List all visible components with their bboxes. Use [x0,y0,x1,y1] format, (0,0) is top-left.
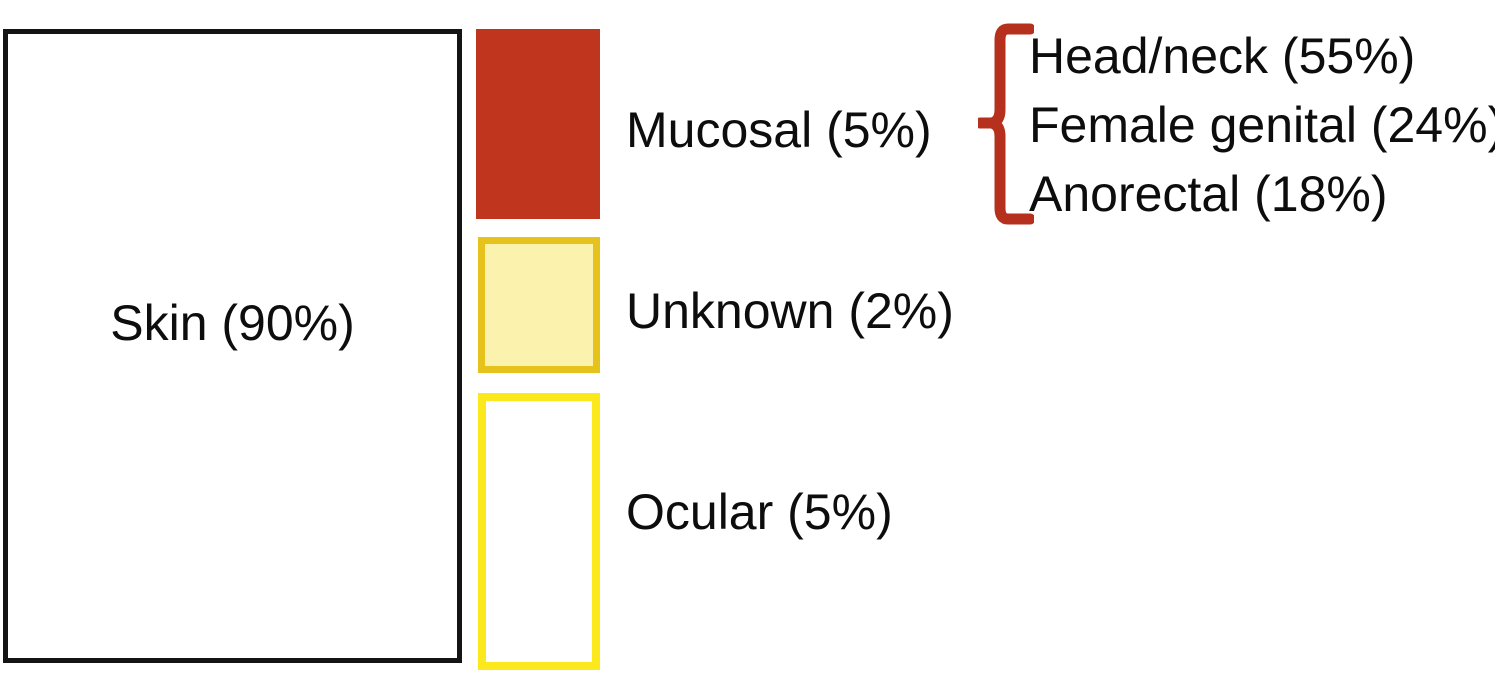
block-unknown-label: Unknown (2%) [626,286,954,336]
block-ocular [478,393,600,670]
block-ocular-label: Ocular (5%) [626,487,893,537]
curly-brace-icon [978,22,1034,228]
block-mucosal-label: Mucosal (5%) [626,105,932,155]
block-unknown [478,237,600,373]
mucosal-subtype-anorectal: Anorectal (18%) [1029,169,1388,219]
mucosal-subtype-head-neck: Head/neck (55%) [1029,31,1415,81]
block-mucosal [476,29,600,219]
block-skin-label: Skin (90%) [3,298,462,348]
mucosal-subtype-female-genital: Female genital (24%) [1029,100,1495,150]
melanoma-primary-site-figure: Skin (90%) Mucosal (5%) Unknown (2%) Ocu… [0,0,1495,676]
